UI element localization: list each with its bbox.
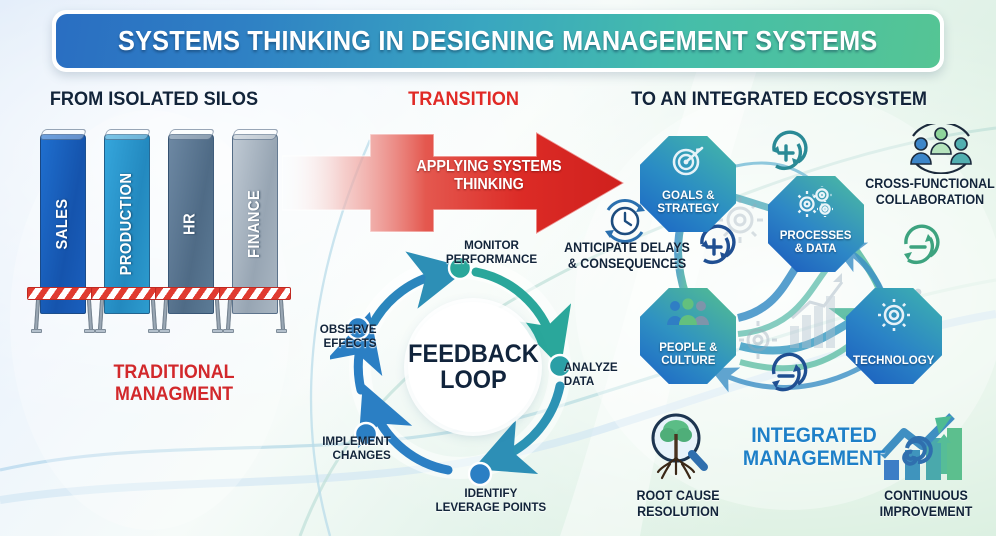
ecosystem-node-label: PEOPLE & CULTURE (659, 341, 717, 368)
clock-delay-icon (598, 196, 652, 246)
loop-label-line-1: OBSERVE (320, 322, 377, 336)
loop-label-line-2: PERFORMANCE (446, 252, 537, 266)
ecosystem-node-label: PROCESSES & DATA (780, 229, 852, 256)
gears-icon (796, 186, 836, 218)
caption-root-cause-resolution: ROOT CAUSE RESOLUTION (620, 488, 735, 519)
loop-label-identify-leverage-points: IDENTIFY LEVERAGE POINTS (436, 486, 547, 514)
heading-transition: TRANSITION (408, 88, 519, 111)
cross-functional-collaboration-icon (905, 124, 977, 174)
title-banner: SYSTEMS THINKING IN DESIGNING MANAGEMENT… (52, 10, 944, 72)
balancing-loop-minus-icon (904, 226, 938, 262)
integrated-line-1: INTEGRATED (730, 424, 897, 447)
infographic-canvas: SYSTEMS THINKING IN DESIGNING MANAGEMENT… (0, 0, 996, 536)
loop-label-line-1: MONITOR (446, 238, 537, 252)
ecosystem-node-goals-strategy[interactable]: GOALS & STRATEGY (640, 136, 736, 232)
ecosystem-node-label: GOALS & STRATEGY (657, 189, 719, 216)
target-icon (671, 146, 705, 176)
page-title: SYSTEMS THINKING IN DESIGNING MANAGEMENT… (118, 25, 877, 57)
title-banner-inner: SYSTEMS THINKING IN DESIGNING MANAGEMENT… (56, 14, 940, 68)
barricade-icon (155, 287, 227, 333)
loop-center-line-2: LOOP (440, 367, 507, 393)
loop-label-line-2: EFFECTS (320, 336, 377, 350)
barricade-icon (27, 287, 99, 333)
caption-line-2: MANAGMENT (71, 384, 278, 406)
loop-node-identify (469, 463, 491, 485)
silo-label: FINANCE (246, 190, 264, 258)
heading-integrated-ecosystem: TO AN INTEGRATED ECOSYSTEM (631, 88, 927, 111)
loop-label-observe-effects: OBSERVE EFFECTS (320, 322, 377, 350)
ecosystem-node-label: TECHNOLOGY (853, 354, 934, 368)
traditional-management-caption: TRADITIONAL MANAGMENT (71, 362, 278, 406)
transition-arrow (282, 128, 624, 238)
people-group-icon (666, 298, 710, 326)
integrated-line-2: MANAGEMENT (730, 447, 897, 470)
root-cause-resolution-icon (640, 412, 718, 486)
loop-label-line-1: IDENTIFY (436, 486, 547, 500)
gear-icon (876, 298, 912, 332)
silo-label: PRODUCTION (118, 173, 136, 276)
caption-cross-functional-collaboration: CROSS-FUNCTIONAL COLLABORATION (865, 176, 995, 207)
loop-label-line-1: IMPLEMENT (322, 434, 391, 448)
loop-center-line-1: FEEDBACK (408, 341, 539, 367)
caption-anticipate-delays: ANTICIPATE DELAYS & CONSEQUENCES (557, 240, 697, 271)
barricade-icon (91, 287, 163, 333)
loop-label-line-2: LEVERAGE POINTS (436, 500, 547, 514)
caption-continuous-improvement: CONTINUOUS IMPROVEMENT (865, 488, 988, 519)
heading-isolated-silos: FROM ISOLATED SILOS (50, 88, 258, 111)
loop-label-monitor-performance: MONITOR PERFORMANCE (446, 238, 537, 266)
loop-label-line-2: CHANGES (322, 448, 391, 462)
integrated-management-caption: INTEGRATED MANAGEMENT (730, 424, 897, 470)
ecosystem-node-people-culture[interactable]: PEOPLE & CULTURE (640, 288, 736, 384)
silo-label: SALES (54, 198, 72, 249)
barricade-icon (219, 287, 291, 333)
silo-label: HR (182, 213, 200, 235)
loop-label-implement-changes: IMPLEMENT CHANGES (322, 434, 391, 462)
ecosystem-node-technology[interactable]: TECHNOLOGY (846, 288, 942, 384)
caption-line-1: TRADITIONAL (71, 362, 278, 384)
feedback-loop-center: FEEDBACK LOOP (408, 302, 538, 432)
ecosystem-node-processes-data[interactable]: PROCESSES & DATA (768, 176, 864, 272)
